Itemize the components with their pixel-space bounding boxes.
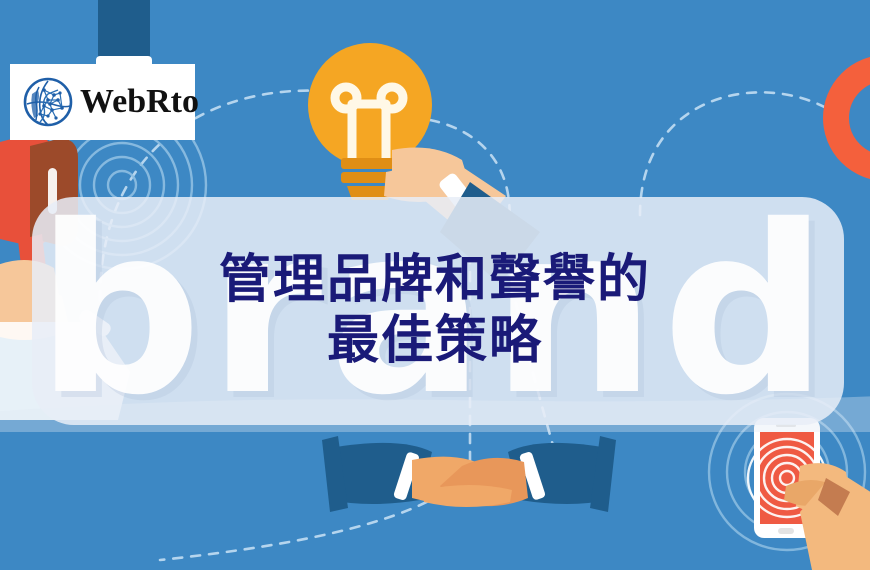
poster-canvas: brand 管理品牌和聲譽的 最佳策略	[0, 0, 870, 570]
logo-wordmark: WebRto	[80, 83, 199, 121]
globe-head-network-icon	[22, 76, 74, 128]
site-logo[interactable]: WebRto	[10, 64, 195, 140]
content-panel	[32, 197, 844, 425]
